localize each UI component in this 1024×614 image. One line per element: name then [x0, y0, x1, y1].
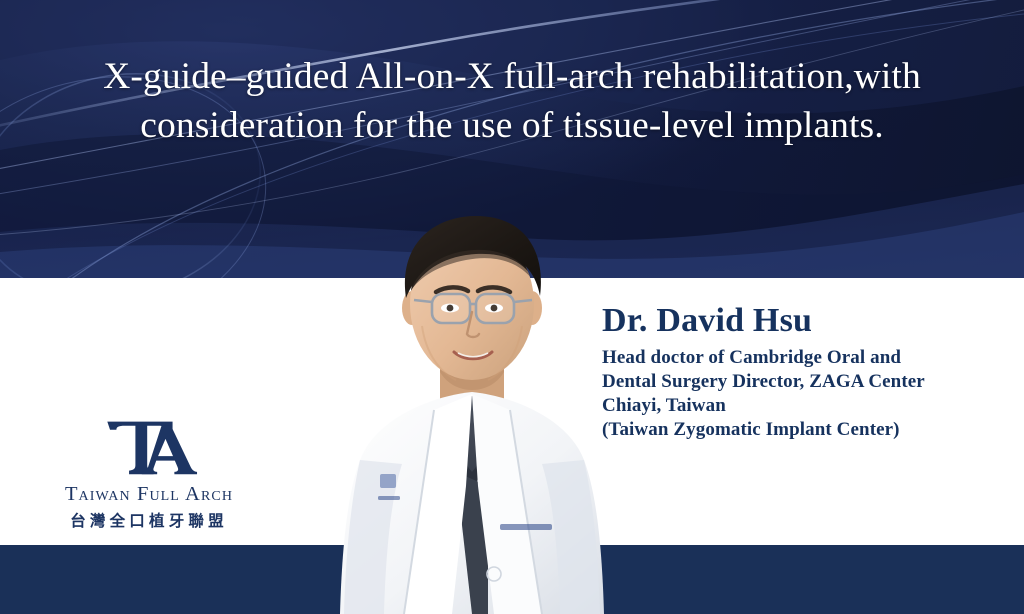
speaker-name: Dr. David Hsu [602, 303, 1012, 340]
portrait-illustration [336, 196, 608, 614]
slide-title: X-guide–guided All-on-X full-arch rehabi… [0, 52, 1024, 150]
speaker-portrait-photo [336, 196, 608, 614]
title-line-1: X-guide–guided All-on-X full-arch rehabi… [0, 52, 1024, 101]
speaker-credential-line-2: Dental Surgery Director, ZAGA Center [602, 370, 1012, 394]
speaker-credential-line-4: (Taiwan Zygomatic Implant Center) [602, 418, 1012, 442]
presentation-slide: X-guide–guided All-on-X full-arch rehabi… [0, 0, 1024, 614]
taiwan-full-arch-logo: Taiwan Full Arch 台灣全口植牙聯盟 [18, 418, 280, 531]
speaker-credential-line-1: Head doctor of Cambridge Oral and [602, 346, 1012, 370]
title-line-2: consideration for the use of tissue-leve… [0, 101, 1024, 150]
logo-wordmark-text: Taiwan Full Arch [18, 484, 280, 506]
speaker-info-block: Dr. David Hsu Head doctor of Cambridge O… [602, 303, 1012, 442]
ta-monogram-icon [89, 418, 209, 476]
speaker-credential-line-3: Chiayi, Taiwan [602, 394, 1012, 418]
logo-chinese-text: 台灣全口植牙聯盟 [18, 509, 280, 531]
portrait-coat-embroidery-right [500, 524, 552, 530]
